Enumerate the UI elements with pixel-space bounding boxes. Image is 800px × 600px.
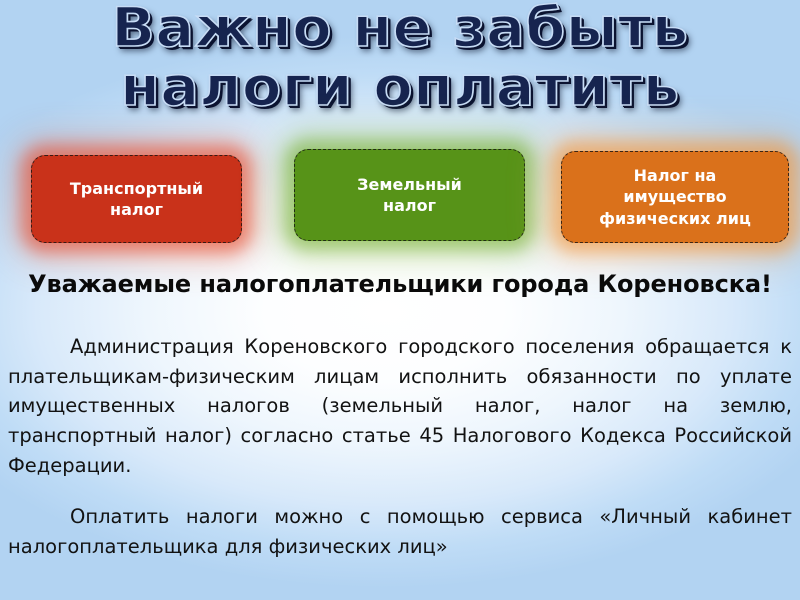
- tax-card-land-line-2: налог: [357, 195, 462, 216]
- tax-card-property[interactable]: Налог на имущество физических лиц: [561, 151, 789, 243]
- tax-card-transport[interactable]: Транспортный налог: [31, 155, 242, 243]
- title-line-2: налоги оплатить: [0, 61, 800, 114]
- tax-card-land-label: Земельный налог: [357, 174, 462, 216]
- body-paragraph-2: Оплатить налоги можно с помощью сервиса …: [8, 502, 792, 561]
- headline: Уважаемые налогоплательщики города Корен…: [0, 270, 800, 298]
- tax-card-land[interactable]: Земельный налог: [294, 149, 525, 241]
- tax-card-transport-line-2: налог: [70, 199, 203, 220]
- tax-card-property-label: Налог на имущество физических лиц: [599, 165, 751, 228]
- body-paragraph-1: Администрация Кореновского городского по…: [8, 332, 792, 480]
- body-copy: Администрация Кореновского городского по…: [8, 332, 792, 561]
- tax-card-property-line-1: Налог на: [599, 165, 751, 186]
- tax-card-property-line-2: имущество: [599, 186, 751, 207]
- slide-title: Важно не забыть налоги оплатить: [0, 2, 800, 114]
- tax-card-transport-label: Транспортный налог: [70, 178, 203, 220]
- title-line-1: Важно не забыть: [0, 2, 800, 55]
- tax-card-property-line-3: физических лиц: [599, 208, 751, 229]
- slide-canvas: Важно не забыть налоги оплатить Транспор…: [0, 0, 800, 600]
- tax-card-land-line-1: Земельный: [357, 174, 462, 195]
- tax-card-transport-line-1: Транспортный: [70, 178, 203, 199]
